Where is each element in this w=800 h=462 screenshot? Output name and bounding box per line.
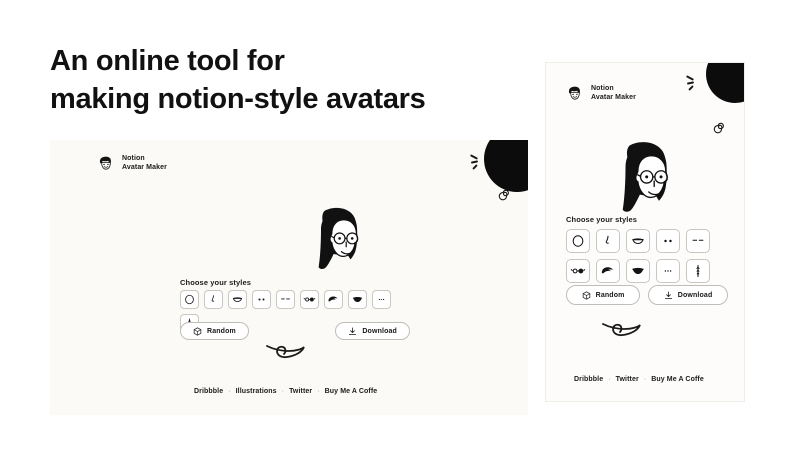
brand-logo[interactable]: Notion Avatar Maker <box>566 85 636 103</box>
brand-subtitle: Avatar Maker <box>122 164 167 173</box>
spiral-decoration-icon <box>710 121 726 142</box>
eyes-dots-icon <box>660 233 676 249</box>
footer-separator: · <box>644 376 646 383</box>
brand-logo[interactable]: Notion Avatar Maker <box>97 155 167 173</box>
footer-links: Dribbble·Illustrations·Twitter·Buy Me A … <box>194 388 377 395</box>
download-button[interactable]: Download <box>335 322 410 340</box>
style-option-details[interactable] <box>656 259 680 283</box>
footer-separator: · <box>608 376 610 383</box>
glasses-icon <box>303 293 316 306</box>
footer-link-buy-me-a-coffe[interactable]: Buy Me A Coffe <box>325 388 378 395</box>
beard-filled-icon <box>351 293 364 306</box>
loop-decoration-icon <box>601 318 647 347</box>
download-arrow-icon <box>664 291 673 300</box>
action-button-row: Random Download <box>566 285 728 305</box>
brand-name: Notion <box>122 155 167 164</box>
style-option-glasses[interactable] <box>566 259 590 283</box>
download-arrow-icon <box>348 327 357 336</box>
footer-link-twitter[interactable]: Twitter <box>616 376 639 383</box>
style-option-details[interactable] <box>372 290 391 309</box>
accessory-icon <box>690 263 706 279</box>
page-title: An online tool for making notion-style a… <box>50 42 425 119</box>
blob-decoration-icon <box>484 140 528 192</box>
glasses-icon <box>570 263 586 279</box>
face-outline-icon <box>183 293 196 306</box>
nose-icon <box>207 293 220 306</box>
beard-filled-icon <box>630 263 646 279</box>
footer-link-dribbble[interactable]: Dribbble <box>194 388 223 395</box>
footer-separator: · <box>228 388 230 395</box>
details-dots-icon <box>375 293 388 306</box>
footer-link-twitter[interactable]: Twitter <box>289 388 312 395</box>
download-button-label: Download <box>362 328 397 335</box>
blob-decoration-icon <box>706 62 745 103</box>
style-option-eyes[interactable] <box>252 290 271 309</box>
brand-subtitle: Avatar Maker <box>591 94 636 103</box>
footer-link-dribbble[interactable]: Dribbble <box>574 376 603 383</box>
footer-separator: · <box>317 388 319 395</box>
eyebrows-icon <box>279 293 292 306</box>
style-option-eyebrows[interactable] <box>276 290 295 309</box>
style-option-beard[interactable] <box>626 259 650 283</box>
face-outline-icon <box>570 233 586 249</box>
style-option-mouth[interactable] <box>626 229 650 253</box>
style-option-face-shape[interactable] <box>180 290 199 309</box>
eyebrows-icon <box>690 233 706 249</box>
style-option-accessories[interactable] <box>686 259 710 283</box>
style-option-eyes[interactable] <box>656 229 680 253</box>
footer-link-illustrations[interactable]: Illustrations <box>236 388 277 395</box>
eyes-dots-icon <box>255 293 268 306</box>
nose-icon <box>600 233 616 249</box>
notion-face-icon <box>97 155 115 173</box>
random-button-label: Random <box>207 328 236 335</box>
action-button-row: Random Download <box>180 322 410 340</box>
style-option-glasses[interactable] <box>300 290 319 309</box>
avatar-preview <box>605 135 687 227</box>
style-option-nose[interactable] <box>204 290 223 309</box>
styles-label: Choose your styles <box>566 215 637 224</box>
mobile-preview-card: Notion Avatar Maker Choose your styles <box>545 62 745 402</box>
dice-cube-icon <box>582 291 591 300</box>
mouth-icon <box>231 293 244 306</box>
hair-filled-icon <box>600 263 616 279</box>
style-option-beard[interactable] <box>348 290 367 309</box>
styles-label: Choose your styles <box>180 278 251 287</box>
download-button-label: Download <box>678 292 713 299</box>
random-button[interactable]: Random <box>180 322 249 340</box>
main-preview-card: Notion Avatar Maker Choose your styles <box>50 140 528 415</box>
dice-cube-icon <box>193 327 202 336</box>
hair-filled-icon <box>327 293 340 306</box>
download-button[interactable]: Download <box>648 285 728 305</box>
avatar-preview <box>303 202 375 282</box>
footer-separator: · <box>282 388 284 395</box>
spiral-decoration-icon <box>495 188 511 209</box>
style-option-nose[interactable] <box>596 229 620 253</box>
style-option-hair[interactable] <box>596 259 620 283</box>
footer-link-buy-me-a-coffe[interactable]: Buy Me A Coffe <box>651 376 704 383</box>
style-option-mouth[interactable] <box>228 290 247 309</box>
notion-face-icon <box>566 85 584 103</box>
style-option-face-shape[interactable] <box>566 229 590 253</box>
style-option-eyebrows[interactable] <box>686 229 710 253</box>
random-button[interactable]: Random <box>566 285 640 305</box>
footer-links: Dribbble·Twitter·Buy Me A Coffe <box>574 376 704 383</box>
random-button-label: Random <box>596 292 625 299</box>
details-dots-icon <box>660 263 676 279</box>
style-option-grid <box>566 229 728 283</box>
mouth-icon <box>630 233 646 249</box>
loop-decoration-icon <box>265 340 311 369</box>
brand-name: Notion <box>591 85 636 94</box>
page-root: An online tool for making notion-style a… <box>0 0 800 462</box>
style-option-hair[interactable] <box>324 290 343 309</box>
